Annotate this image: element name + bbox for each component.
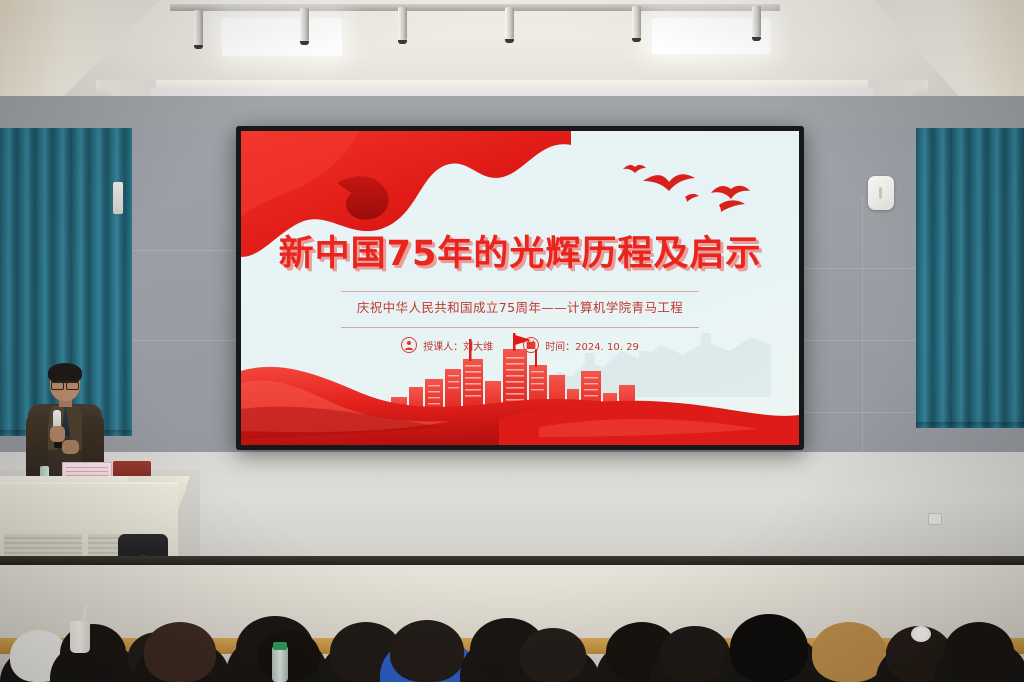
audience-member-head bbox=[390, 620, 464, 682]
wall-seam bbox=[800, 412, 916, 413]
flying-birds-icon bbox=[619, 155, 759, 213]
audience-member-head bbox=[944, 622, 1014, 682]
divider-line-top bbox=[341, 291, 699, 292]
wall-socket-icon bbox=[928, 513, 942, 525]
stage-curtain-right bbox=[916, 128, 1024, 428]
track-spotlight-icon bbox=[398, 7, 407, 41]
wall-seam bbox=[800, 340, 916, 341]
lecture-hall-scene: 新中国75年的光辉历程及启示 庆祝中华人民共和国成立75周年——计算机学院青马工… bbox=[0, 0, 1024, 682]
track-spotlight-icon bbox=[300, 8, 309, 42]
wall-panel bbox=[132, 128, 240, 458]
wall-seam bbox=[132, 340, 240, 341]
wall-sensor-icon bbox=[113, 182, 123, 214]
audience-member-head bbox=[730, 614, 808, 682]
hair-bow bbox=[911, 626, 931, 642]
ceiling-panel-light bbox=[222, 18, 342, 56]
track-spotlight-icon bbox=[752, 6, 761, 38]
wall-seam bbox=[800, 268, 916, 269]
track-spotlight-icon bbox=[632, 6, 641, 39]
wall-panel bbox=[800, 128, 916, 458]
audience-member-head bbox=[144, 622, 216, 682]
audience-member-head bbox=[812, 622, 886, 682]
water-bottle-audience bbox=[272, 646, 288, 682]
wall-seam bbox=[132, 250, 240, 251]
audience-member-head bbox=[258, 630, 320, 682]
presentation-slide: 新中国75年的光辉历程及启示 庆祝中华人民共和国成立75周年——计算机学院青马工… bbox=[241, 131, 799, 445]
track-spotlight-icon bbox=[194, 10, 203, 46]
slide-subtitle: 庆祝中华人民共和国成立75周年——计算机学院青马工程 bbox=[241, 297, 799, 316]
track-spotlight-icon bbox=[505, 7, 514, 40]
presenter-hair bbox=[48, 363, 82, 383]
red-silk-ribbon-bottom-right bbox=[499, 375, 799, 445]
audience-member-head bbox=[520, 628, 586, 682]
led-display-screen[interactable]: 新中国75年的光辉历程及启示 庆祝中华人民共和国成立75周年——计算机学院青马工… bbox=[236, 126, 804, 450]
divider-line-bottom bbox=[341, 327, 699, 328]
drink-cup bbox=[70, 621, 90, 653]
glasses-icon bbox=[51, 381, 79, 387]
wall-speaker-icon bbox=[868, 176, 894, 210]
presenter-hand-lower bbox=[62, 440, 79, 454]
curtain-hem bbox=[916, 422, 1024, 428]
audience-rows bbox=[0, 560, 1024, 682]
wall-seam-vertical bbox=[862, 196, 863, 458]
presenter-hand-upper bbox=[50, 426, 65, 442]
slide-title: 新中国75年的光辉历程及启示 bbox=[241, 225, 799, 276]
bottle-cap bbox=[273, 642, 287, 650]
light-track-rail bbox=[170, 4, 780, 11]
